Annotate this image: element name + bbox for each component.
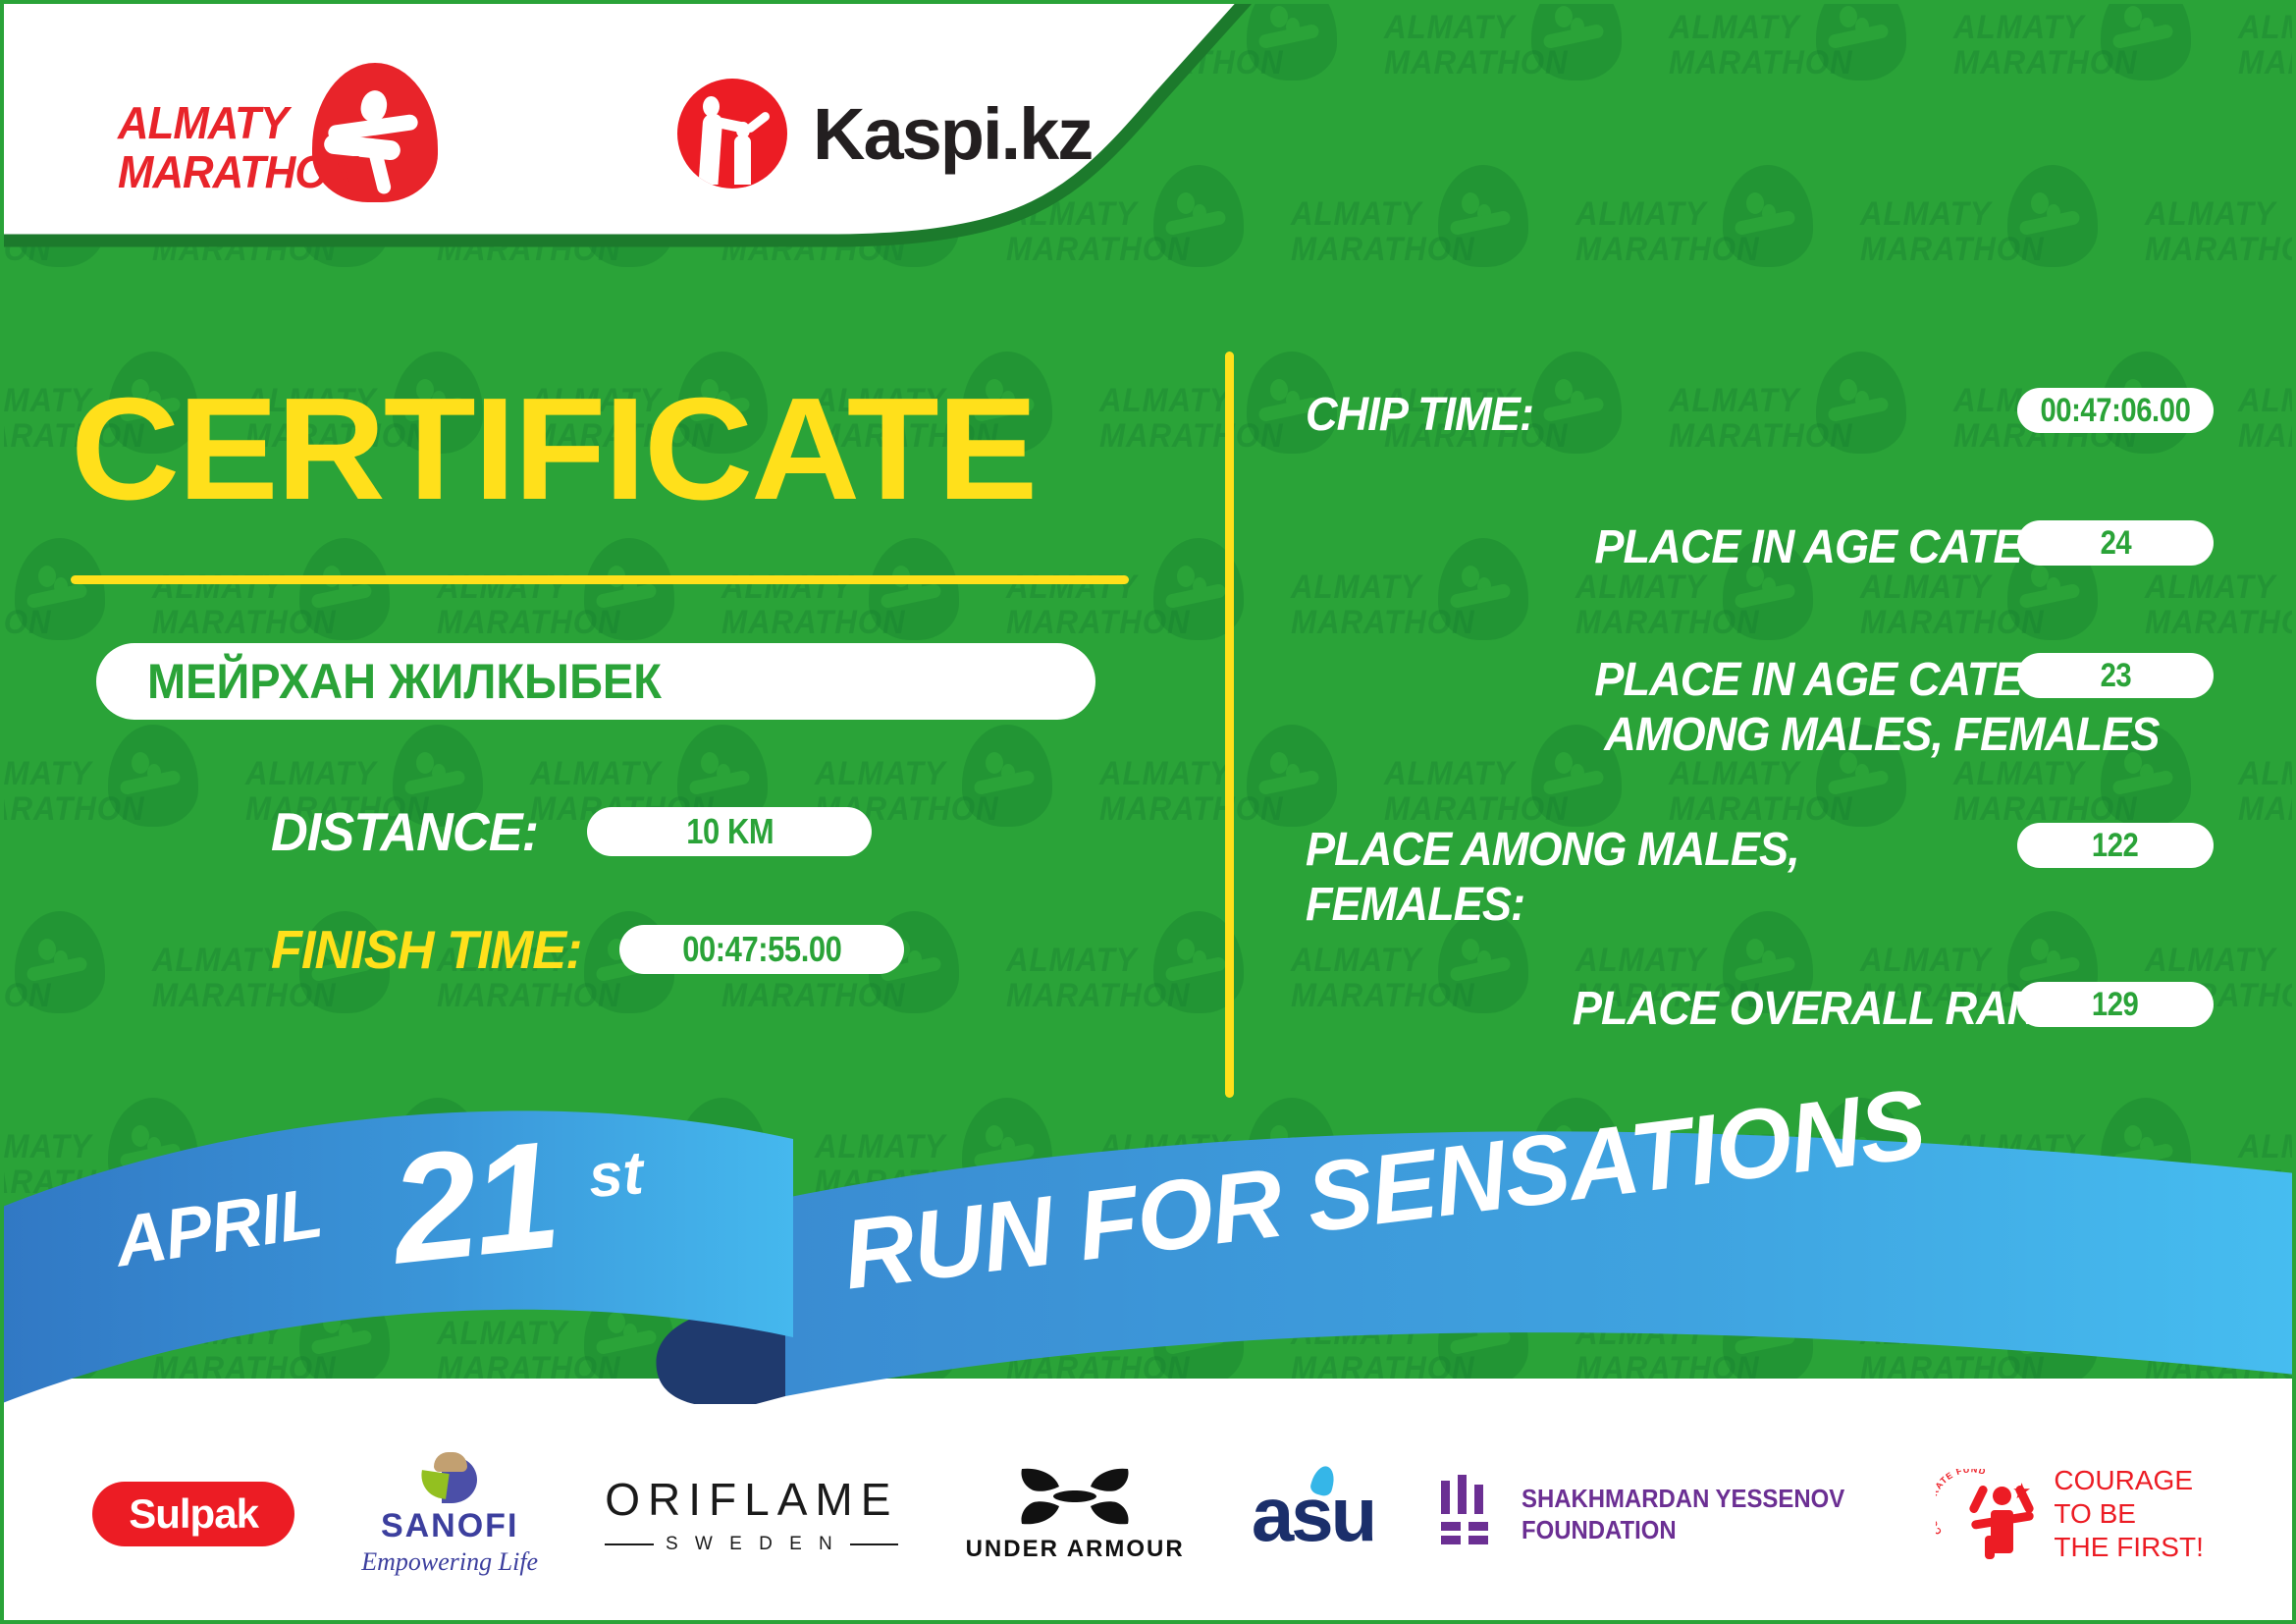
place-age-category-value-pill: 24: [2017, 520, 2214, 566]
oriflame-wordmark: ORIFLAME: [605, 1473, 898, 1526]
logo-line-2: MARATHON: [118, 147, 357, 196]
place-among-gender-value: 122: [2092, 827, 2139, 865]
sponsor-logo-courage-fund: CORPORATE FUND ★ COURAGE TO BE THE FIRST…: [1940, 1464, 2203, 1564]
sanofi-mark-icon: [418, 1452, 481, 1503]
almaty-marathon-wordmark: ALMATY MARATHON: [118, 98, 357, 196]
oriflame-sweden-text: S W E D E N: [666, 1534, 838, 1555]
certificate-page: ALMATYMARATHONALMATYMARATHONALMATYMARATH…: [0, 0, 2296, 1624]
sponsor-logo-oriflame: ORIFLAME S W E D E N: [605, 1473, 898, 1555]
place-overall-ranking-row: PLACE OVERALL RANKING: 129: [1306, 982, 2214, 1037]
sponsor-bar: Sulpak SANOFI Empowering Life ORIFLAME S…: [0, 1404, 2296, 1624]
divider-line-right: [850, 1543, 899, 1545]
sponsor-logo-under-armour: UNDER ARMOUR: [966, 1465, 1185, 1563]
courage-wordmark: COURAGE TO BE THE FIRST!: [2054, 1464, 2203, 1564]
chip-time-value-pill: 00:47:06.00: [2017, 388, 2214, 433]
yessenov-line-2: FOUNDATION: [1522, 1514, 1844, 1545]
kaspi-wordmark: Kaspi.kz: [813, 92, 1092, 176]
place-age-category-gender-label-line2: AMONG MALES, FEMALES: [1306, 708, 2160, 763]
place-age-category-gender-row: PLACE IN AGE CATEGORY: AMONG MALES, FEMA…: [1306, 653, 2214, 763]
place-age-category-gender-value: 23: [2100, 657, 2131, 695]
courage-line-2: TO BE: [2054, 1497, 2203, 1531]
kaspi-people-circle-icon: [677, 79, 787, 189]
courage-person-icon: ★: [1973, 1481, 2032, 1557]
sponsor-logo-sanofi: SANOFI Empowering Life: [361, 1452, 538, 1577]
place-overall-ranking-value: 129: [2092, 986, 2139, 1024]
yessenov-line-1: SHAKHMARDAN YESSENOV: [1522, 1483, 1844, 1514]
chip-time-value: 00:47:06.00: [2041, 392, 2191, 430]
almaty-marathon-logo: ALMATY MARATHON: [118, 61, 471, 198]
sanofi-tagline: Empowering Life: [361, 1547, 538, 1577]
page-title: CERTIFICATE: [71, 376, 1036, 523]
participant-name-field: МЕЙРХАН ЖИЛКЫБЕК: [96, 643, 1095, 720]
place-overall-ranking-value-pill: 129: [2017, 982, 2214, 1027]
under-armour-wordmark: UNDER ARMOUR: [966, 1536, 1185, 1563]
place-among-gender-value-pill: 122: [2017, 823, 2214, 868]
place-age-category-value: 24: [2100, 524, 2131, 563]
distance-value: 10 KM: [686, 811, 774, 852]
logo-line-1: ALMATY: [118, 98, 357, 147]
participant-name-value: МЕЙРХАН ЖИЛКЫБЕК: [147, 653, 662, 710]
sponsor-logo-yessenov-foundation: SHAKHMARDAN YESSENOV FOUNDATION: [1441, 1475, 1873, 1553]
kaspi-logo: Kaspi.kz: [677, 79, 1092, 189]
place-among-gender-row: PLACE AMONG MALES, FEMALES: 122: [1306, 823, 2214, 933]
courage-line-3: THE FIRST!: [2054, 1531, 2203, 1564]
finish-time-value-pill: 00:47:55.00: [619, 925, 904, 974]
distance-label: DISTANCE:: [271, 800, 538, 863]
distance-row: DISTANCE: 10 KM: [271, 800, 872, 863]
place-age-category-row: PLACE IN AGE CATEGORY: 24: [1306, 520, 2214, 575]
oriflame-sub: S W E D E N: [605, 1534, 898, 1555]
sulpak-wordmark: Sulpak: [129, 1490, 258, 1538]
finish-time-label: FINISH TIME:: [271, 918, 582, 981]
finish-time-value: 00:47:55.00: [682, 929, 841, 970]
event-ribbon-banner: [0, 1080, 2296, 1404]
under-armour-icon: [1012, 1465, 1138, 1528]
courage-figure-icon: CORPORATE FUND ★: [1940, 1467, 2038, 1561]
column-divider: [1225, 352, 1234, 1098]
divider-line-left: [605, 1543, 654, 1545]
yessenov-bars-icon: [1441, 1475, 1502, 1553]
distance-value-pill: 10 KM: [587, 807, 872, 856]
sanofi-wordmark: SANOFI: [381, 1507, 518, 1545]
sponsor-logo-sulpak: Sulpak: [92, 1482, 294, 1546]
chip-time-row: CHIP TIME: 00:47:06.00: [1306, 388, 2214, 443]
place-age-category-gender-value-pill: 23: [2017, 653, 2214, 698]
finish-time-row: FINISH TIME: 00:47:55.00: [271, 918, 904, 981]
courage-line-1: COURAGE: [2054, 1464, 2203, 1497]
sponsor-logo-asu: asu: [1252, 1470, 1374, 1559]
yessenov-wordmark: SHAKHMARDAN YESSENOV FOUNDATION: [1522, 1483, 1844, 1545]
place-among-gender-label-line2: FEMALES:: [1306, 878, 2160, 933]
title-underline: [71, 575, 1129, 584]
